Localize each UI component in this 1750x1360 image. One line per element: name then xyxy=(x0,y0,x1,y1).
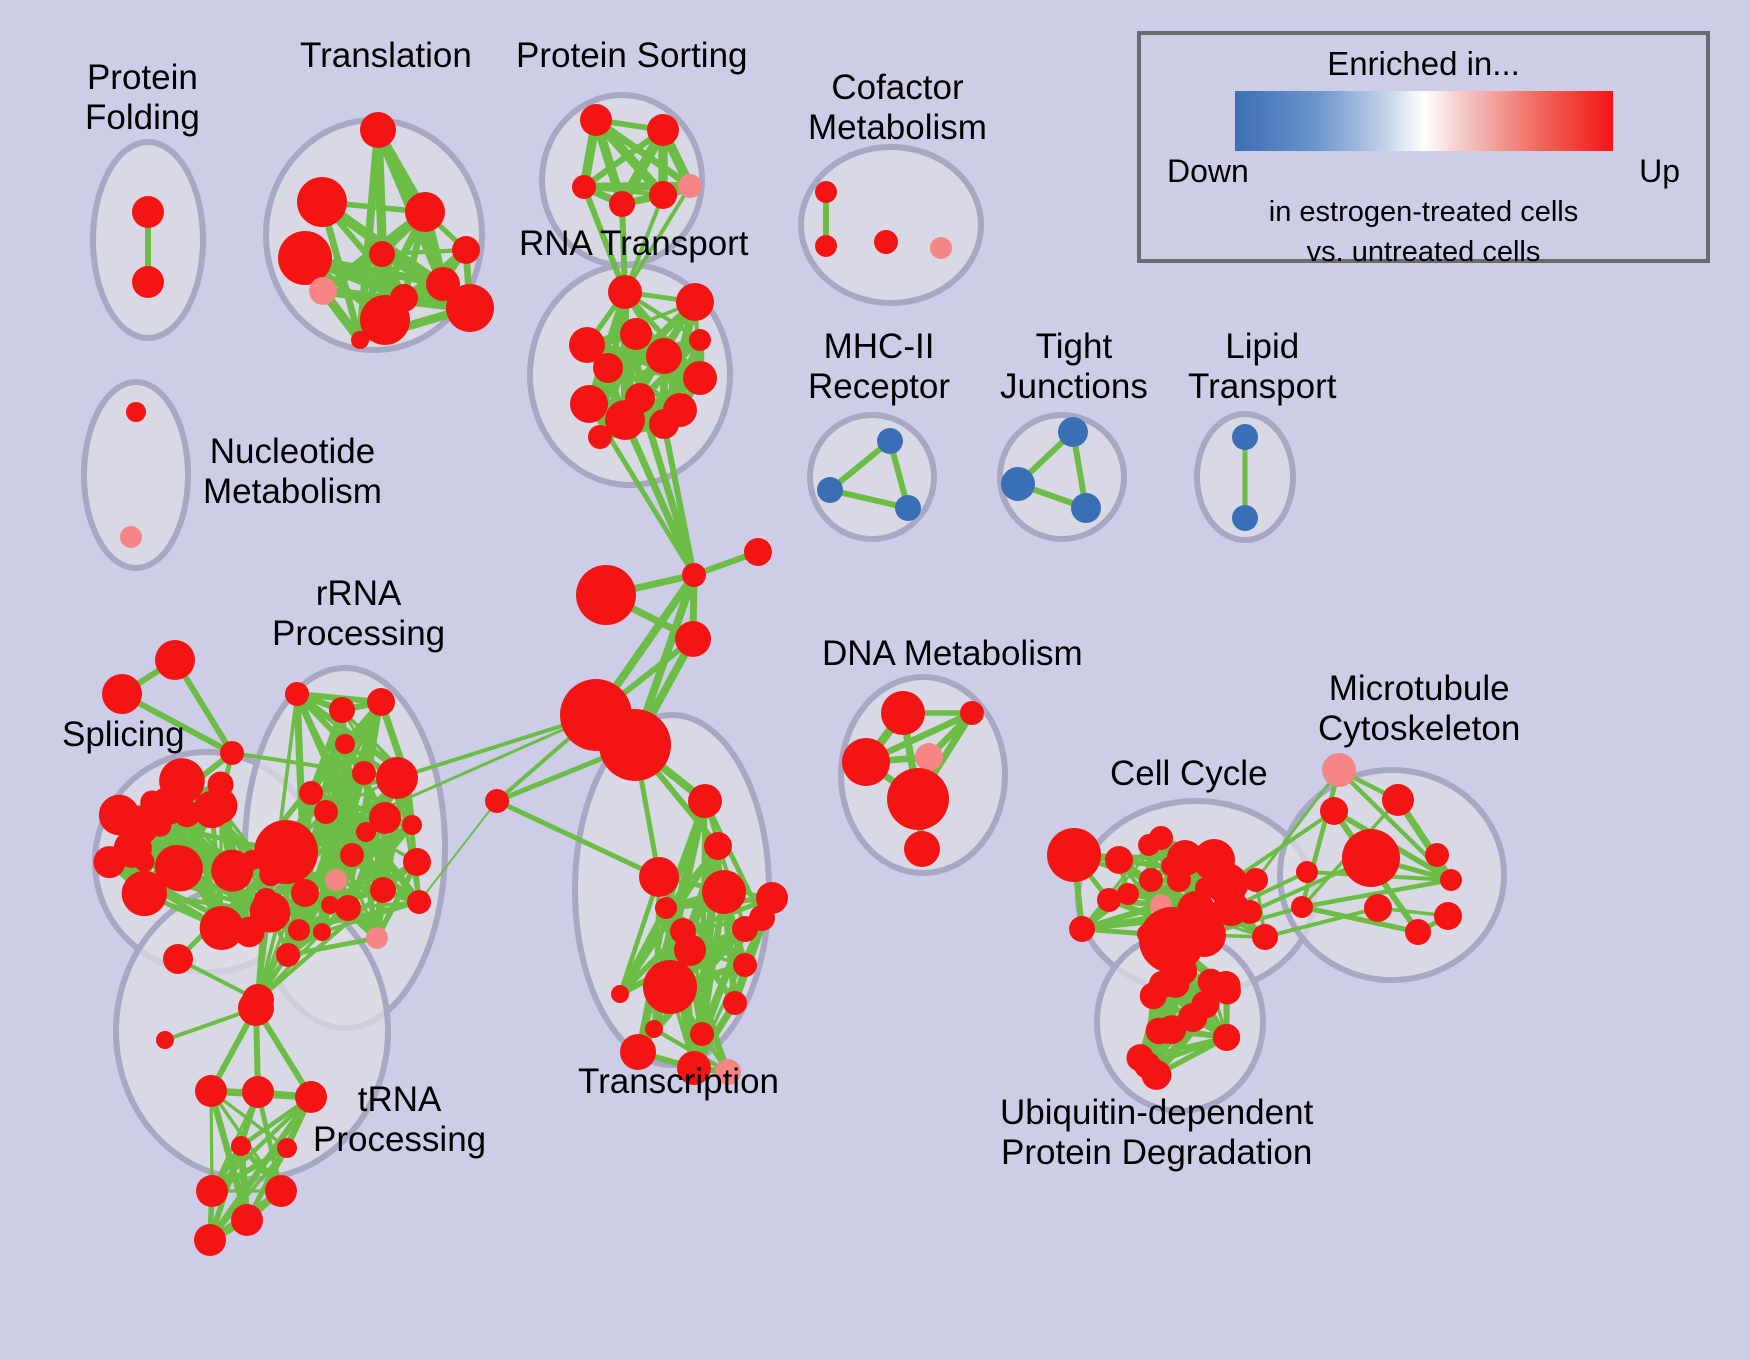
network-node[interactable] xyxy=(842,738,890,786)
cluster-label-nucleotide-metabolism: Nucleotide Metabolism xyxy=(203,432,382,512)
network-node[interactable] xyxy=(815,181,837,203)
network-node[interactable] xyxy=(1058,417,1088,447)
network-node[interactable] xyxy=(120,526,142,548)
network-node[interactable] xyxy=(588,425,612,449)
network-node[interactable] xyxy=(265,1175,297,1207)
network-node[interactable] xyxy=(238,990,274,1026)
network-node[interactable] xyxy=(132,266,164,298)
network-node[interactable] xyxy=(1364,894,1392,922)
network-node[interactable] xyxy=(99,795,140,836)
network-node[interactable] xyxy=(756,882,788,914)
network-node[interactable] xyxy=(688,784,722,818)
legend-subtitle-line2: vs. untreated cells xyxy=(1141,234,1706,270)
network-node[interactable] xyxy=(288,919,310,941)
network-node[interactable] xyxy=(1238,900,1262,924)
network-node[interactable] xyxy=(242,850,262,870)
network-node[interactable] xyxy=(682,563,706,587)
network-node[interactable] xyxy=(915,743,943,771)
network-node[interactable] xyxy=(335,734,355,754)
network-node[interactable] xyxy=(887,768,949,830)
network-node[interactable] xyxy=(1071,493,1101,523)
network-node[interactable] xyxy=(1161,856,1181,876)
network-node[interactable] xyxy=(407,890,431,914)
network-node[interactable] xyxy=(193,791,230,828)
network-node[interactable] xyxy=(723,991,747,1015)
network-node[interactable] xyxy=(291,879,319,907)
network-node[interactable] xyxy=(163,944,193,974)
cluster-label-protein-sorting: Protein Sorting xyxy=(516,36,748,76)
network-node[interactable] xyxy=(1440,869,1462,891)
network-node[interactable] xyxy=(1405,919,1431,945)
network-node[interactable] xyxy=(314,800,338,824)
network-node[interactable] xyxy=(1232,424,1258,450)
color-gradient-bar xyxy=(1235,91,1613,151)
network-node[interactable] xyxy=(593,353,623,383)
network-node[interactable] xyxy=(1069,916,1095,942)
network-node[interactable] xyxy=(1047,828,1101,882)
network-node[interactable] xyxy=(733,953,757,977)
network-node[interactable] xyxy=(352,761,376,785)
network-node[interactable] xyxy=(313,923,331,941)
network-node[interactable] xyxy=(649,181,677,209)
network-node[interactable] xyxy=(370,877,396,903)
network-node[interactable] xyxy=(329,697,355,723)
network-node[interactable] xyxy=(676,283,714,321)
network-node[interactable] xyxy=(1425,843,1449,867)
network-node[interactable] xyxy=(299,781,323,805)
network-node[interactable] xyxy=(132,196,164,228)
network-node[interactable] xyxy=(1434,902,1462,930)
network-node[interactable] xyxy=(1001,467,1035,501)
cluster-label-cofactor-metabolism: Cofactor Metabolism xyxy=(808,68,987,148)
cluster-label-protein-folding: Protein Folding xyxy=(85,58,200,138)
network-node[interactable] xyxy=(351,331,369,349)
network-node[interactable] xyxy=(646,338,682,374)
network-node[interactable] xyxy=(639,857,679,897)
network-node[interactable] xyxy=(1149,826,1173,850)
network-node[interactable] xyxy=(254,888,278,912)
network-node[interactable] xyxy=(645,1020,663,1038)
network-node[interactable] xyxy=(570,385,608,423)
network-node[interactable] xyxy=(689,329,711,351)
network-node[interactable] xyxy=(134,852,154,872)
network-node[interactable] xyxy=(732,916,758,942)
network-node[interactable] xyxy=(231,1136,251,1156)
network-node[interactable] xyxy=(576,565,636,625)
network-node[interactable] xyxy=(1146,1018,1172,1044)
network-node[interactable] xyxy=(877,428,903,454)
network-node[interactable] xyxy=(611,985,629,1003)
network-node[interactable] xyxy=(397,766,415,784)
legend-title: Enriched in... xyxy=(1141,45,1706,83)
cluster-label-ubiquitin-protein-degradation: Ubiquitin-dependent Protein Degradation xyxy=(1000,1093,1313,1173)
network-node[interactable] xyxy=(140,791,163,814)
network-node[interactable] xyxy=(1382,784,1414,816)
network-node[interactable] xyxy=(599,709,671,781)
network-node[interactable] xyxy=(1291,896,1313,918)
cluster-label-rrna-processing: rRNA Processing xyxy=(272,574,445,654)
network-node[interactable] xyxy=(675,621,711,657)
network-node[interactable] xyxy=(960,701,984,725)
network-node[interactable] xyxy=(220,741,244,765)
network-node[interactable] xyxy=(405,192,445,232)
network-figure: Protein Folding Translation Protein Sort… xyxy=(0,0,1750,1360)
network-node[interactable] xyxy=(321,896,339,914)
legend-subtitle-line1: in estrogen-treated cells xyxy=(1141,194,1706,230)
network-node[interactable] xyxy=(704,832,732,860)
network-node[interactable] xyxy=(1140,982,1167,1009)
cluster-label-tight-junctions: Tight Junctions xyxy=(1000,327,1148,407)
cluster-label-transcription: Transcription xyxy=(578,1062,779,1102)
network-node[interactable] xyxy=(366,927,388,949)
legend-box: Enriched in... Down Up in estrogen-treat… xyxy=(1137,31,1710,263)
network-node[interactable] xyxy=(1213,1024,1240,1051)
cluster-label-dna-metabolism: DNA Metabolism xyxy=(822,634,1083,674)
network-node[interactable] xyxy=(744,538,772,566)
cluster-label-mhc-ii-receptor: MHC-II Receptor xyxy=(808,327,950,407)
network-node[interactable] xyxy=(402,815,422,835)
network-node[interactable] xyxy=(446,284,494,332)
network-node[interactable] xyxy=(126,402,146,422)
network-node[interactable] xyxy=(702,870,746,914)
network-node[interactable] xyxy=(309,277,337,305)
network-node[interactable] xyxy=(1126,1044,1153,1071)
network-node[interactable] xyxy=(403,848,431,876)
legend-up-label: Up xyxy=(1639,153,1680,190)
network-node[interactable] xyxy=(1097,888,1121,912)
network-node[interactable] xyxy=(1232,505,1258,531)
network-node[interactable] xyxy=(335,895,361,921)
network-node[interactable] xyxy=(485,789,509,813)
network-node[interactable] xyxy=(647,114,679,146)
network-node[interactable] xyxy=(1105,846,1133,874)
network-node[interactable] xyxy=(340,843,364,867)
network-node[interactable] xyxy=(930,237,952,259)
network-node[interactable] xyxy=(817,477,843,503)
network-node[interactable] xyxy=(231,1204,263,1236)
network-node[interactable] xyxy=(655,897,677,919)
network-node[interactable] xyxy=(678,174,702,198)
network-node[interactable] xyxy=(874,230,898,254)
network-node[interactable] xyxy=(904,831,940,867)
cluster-label-microtubule-cytoskeleton: Microtubule Cytoskeleton xyxy=(1318,669,1520,749)
network-node[interactable] xyxy=(1322,753,1356,787)
network-node[interactable] xyxy=(690,1022,714,1046)
network-node[interactable] xyxy=(156,1031,174,1049)
network-node[interactable] xyxy=(580,104,612,136)
network-node[interactable] xyxy=(155,640,195,680)
network-node[interactable] xyxy=(815,235,837,257)
network-node[interactable] xyxy=(674,934,706,966)
cluster-label-translation: Translation xyxy=(300,36,472,76)
network-node[interactable] xyxy=(608,275,642,309)
network-node[interactable] xyxy=(452,236,480,264)
network-node[interactable] xyxy=(325,869,347,891)
network-node[interactable] xyxy=(1296,861,1318,883)
network-node[interactable] xyxy=(278,231,332,285)
network-node[interactable] xyxy=(102,674,142,714)
network-node[interactable] xyxy=(1139,868,1163,892)
network-node[interactable] xyxy=(881,691,925,735)
network-node[interactable] xyxy=(609,191,635,217)
network-node[interactable] xyxy=(572,175,596,199)
network-node[interactable] xyxy=(242,1076,274,1108)
network-node[interactable] xyxy=(297,177,347,227)
network-node[interactable] xyxy=(155,845,199,889)
network-node[interactable] xyxy=(367,688,395,716)
cluster-label-cell-cycle: Cell Cycle xyxy=(1110,754,1268,794)
network-node[interactable] xyxy=(196,1175,228,1207)
network-node[interactable] xyxy=(643,960,697,1014)
network-node[interactable] xyxy=(285,682,309,706)
cluster-label-splicing: Splicing xyxy=(62,715,185,755)
network-node[interactable] xyxy=(1342,829,1400,887)
network-node[interactable] xyxy=(276,943,300,967)
cluster-ellipse xyxy=(810,415,934,539)
network-node[interactable] xyxy=(1320,797,1348,825)
network-node[interactable] xyxy=(360,112,396,148)
network-node[interactable] xyxy=(234,917,264,947)
network-node[interactable] xyxy=(93,846,125,878)
network-node[interactable] xyxy=(683,361,717,395)
network-node[interactable] xyxy=(254,820,318,884)
network-node[interactable] xyxy=(195,1075,227,1107)
network-node[interactable] xyxy=(277,1138,297,1158)
network-node[interactable] xyxy=(159,758,205,804)
network-node[interactable] xyxy=(369,241,395,267)
cluster-label-trna-processing: tRNA Processing xyxy=(313,1080,486,1160)
network-node[interactable] xyxy=(356,822,376,842)
network-node[interactable] xyxy=(1198,969,1224,995)
network-node[interactable] xyxy=(1191,991,1219,1019)
legend-down-label: Down xyxy=(1167,153,1249,190)
network-node[interactable] xyxy=(194,1224,226,1256)
cluster-label-lipid-transport: Lipid Transport xyxy=(1188,327,1336,407)
network-node[interactable] xyxy=(1252,924,1278,950)
network-node[interactable] xyxy=(649,409,679,439)
cluster-label-rna-transport: RNA Transport xyxy=(519,224,749,264)
network-node[interactable] xyxy=(1244,868,1268,892)
network-node[interactable] xyxy=(895,495,921,521)
network-node[interactable] xyxy=(620,318,652,350)
